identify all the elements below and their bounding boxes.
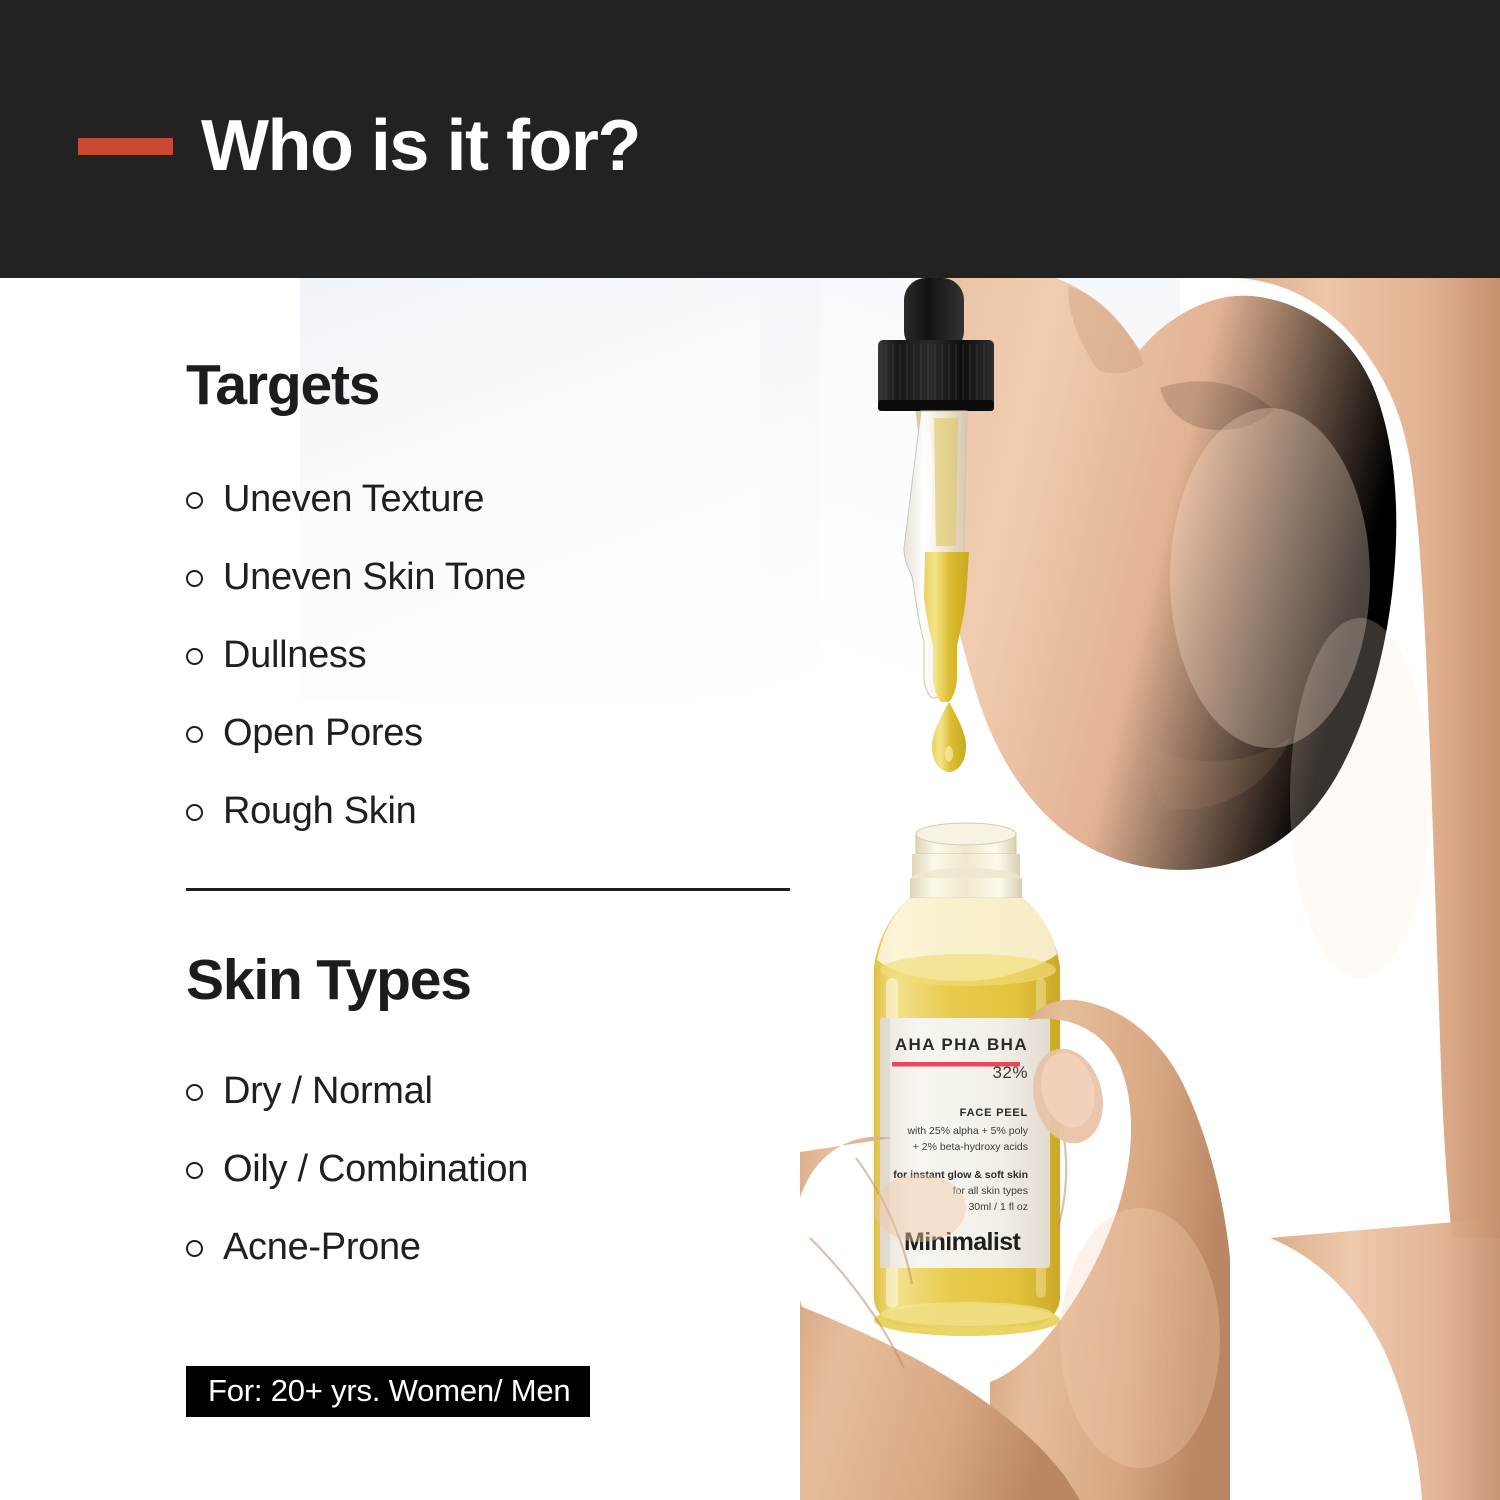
list-item: Oily / Combination: [186, 1131, 528, 1209]
infographic-page: Who is it for? Targets Uneven Texture Un…: [0, 0, 1500, 1500]
accent-dash-icon: [78, 138, 173, 155]
circle-bullet-icon: [186, 1162, 203, 1179]
circle-bullet-icon: [186, 492, 203, 509]
circle-bullet-icon: [186, 1240, 203, 1257]
bottle-neck-ring-2: [910, 878, 1022, 900]
list-item-label: Uneven Texture: [223, 480, 484, 518]
lower-forearm: [1270, 1218, 1500, 1500]
list-item-label: Dullness: [223, 636, 366, 674]
label-acids: AHA PHA BHA: [895, 1035, 1028, 1054]
skin-types-list: Dry / Normal Oily / Combination Acne-Pro…: [186, 1053, 528, 1287]
section-title-skin-types: Skin Types: [186, 952, 471, 1009]
list-item: Acne-Prone: [186, 1209, 528, 1287]
label-composition-2: + 2% beta-hydroxy acids: [913, 1141, 1028, 1153]
list-item-label: Acne-Prone: [223, 1228, 421, 1266]
circle-bullet-icon: [186, 804, 203, 821]
label-type: FACE PEEL: [960, 1107, 1028, 1119]
product-photo: AHA PHA BHA 32% FACE PEEL with 25% alpha…: [800, 278, 1500, 1500]
circle-bullet-icon: [186, 726, 203, 743]
list-item: Dry / Normal: [186, 1053, 528, 1131]
status-badge: For: 20+ yrs. Women/ Men: [186, 1366, 590, 1417]
list-item: Uneven Texture: [186, 461, 526, 539]
circle-bullet-icon: [186, 1084, 203, 1101]
list-item-label: Dry / Normal: [223, 1072, 433, 1110]
label-volume: 30ml / 1 fl oz: [968, 1201, 1028, 1213]
list-item-label: Rough Skin: [223, 792, 416, 830]
header-banner: Who is it for?: [0, 0, 1500, 278]
label-strength: 32%: [992, 1063, 1028, 1082]
circle-bullet-icon: [186, 570, 203, 587]
list-item-label: Uneven Skin Tone: [223, 558, 526, 596]
list-item: Open Pores: [186, 695, 526, 773]
list-item: Uneven Skin Tone: [186, 539, 526, 617]
page-title: Who is it for?: [201, 110, 640, 182]
section-divider: [186, 888, 790, 891]
targets-list: Uneven Texture Uneven Skin Tone Dullness…: [186, 461, 526, 851]
list-item: Dullness: [186, 617, 526, 695]
list-item: Rough Skin: [186, 773, 526, 851]
section-title-targets: Targets: [186, 357, 379, 414]
list-item-label: Oily / Combination: [223, 1150, 528, 1188]
label-benefit-2: for all skin types: [953, 1185, 1028, 1197]
label-composition-1: with 25% alpha + 5% poly: [906, 1125, 1028, 1137]
pipette-serum-upper-streak: [934, 418, 958, 546]
header-inner: Who is it for?: [78, 110, 640, 182]
list-item-label: Open Pores: [223, 714, 423, 752]
circle-bullet-icon: [186, 648, 203, 665]
